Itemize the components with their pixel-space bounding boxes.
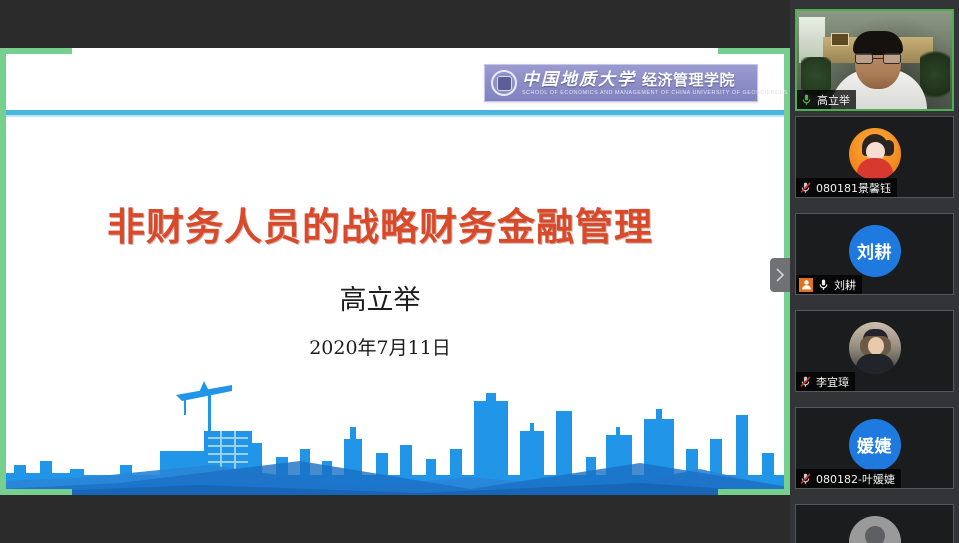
slide-bracket-top-right-horizontal: [718, 48, 790, 54]
collapse-participants-rail-button[interactable]: [770, 258, 790, 292]
shared-screen-stage[interactable]: 中国地质大学 经济管理学院 SCHOOL OF ECONOMICS AND MA…: [0, 0, 790, 543]
participants-rail[interactable]: 高立举 080181景馨钰 刘耕: [790, 0, 959, 543]
participant-name: 刘耕: [834, 277, 856, 293]
avatar-initials: 媛婕: [857, 432, 892, 457]
slide-presenter-name: 高立举: [0, 278, 760, 317]
slide-header-rule-light: [6, 115, 790, 117]
participant-name: 李宜璋: [816, 374, 849, 390]
slide-bracket-bottom-right-horizontal: [718, 489, 790, 495]
host-badge-icon: [799, 278, 813, 292]
participant-tile[interactable]: 刘耕 刘耕: [795, 213, 954, 295]
microphone-icon: [800, 93, 813, 106]
slide-bracket-top-left-horizontal: [0, 48, 72, 54]
banner-english-name: SCHOOL OF ECONOMICS AND MANAGEMENT OF CH…: [522, 91, 790, 96]
avatar: [849, 516, 901, 543]
microphone-muted-icon: [799, 375, 812, 388]
slide-bracket-bottom-left-horizontal: [0, 489, 72, 495]
avatar: [849, 322, 901, 374]
participant-tile[interactable]: 李宜璋: [795, 310, 954, 392]
participant-nameplate: 高立举: [797, 90, 856, 109]
participant-name: 高立举: [817, 92, 850, 108]
chevron-right-icon: [775, 268, 785, 282]
microphone-icon: [817, 278, 830, 291]
slide-date: 2020年7月11日: [0, 333, 760, 360]
participant-tile[interactable]: 媛婕 080182-叶媛婕: [795, 407, 954, 489]
slide-bracket-left-vertical: [0, 48, 6, 495]
banner-school-name: 经济管理学院: [642, 73, 735, 88]
participant-nameplate: 080181景馨钰: [796, 178, 897, 197]
avatar-initials: 刘耕: [857, 238, 892, 263]
avatar: 媛婕: [849, 419, 901, 471]
participant-tile[interactable]: [795, 504, 954, 543]
avatar: [849, 128, 901, 180]
participant-name: 080182-叶媛婕: [816, 471, 895, 487]
participant-name: 080181景馨钰: [816, 180, 891, 196]
university-banner: 中国地质大学 经济管理学院 SCHOOL OF ECONOMICS AND MA…: [484, 64, 758, 102]
microphone-muted-icon: [799, 472, 812, 485]
participant-nameplate: 刘耕: [796, 275, 862, 294]
video-conference-window: 中国地质大学 经济管理学院 SCHOOL OF ECONOMICS AND MA…: [0, 0, 959, 543]
slide-title: 非财务人员的战略财务金融管理: [0, 196, 760, 251]
banner-university-name: 中国地质大学: [522, 72, 636, 89]
participant-nameplate: 李宜璋: [796, 372, 855, 391]
presentation-slide[interactable]: 中国地质大学 经济管理学院 SCHOOL OF ECONOMICS AND MA…: [0, 48, 790, 495]
university-seal-icon: [491, 70, 517, 96]
microphone-muted-icon: [799, 181, 812, 194]
participant-tile[interactable]: 080181景馨钰: [795, 116, 954, 198]
city-skyline-illustration: [0, 365, 790, 495]
participant-nameplate: 080182-叶媛婕: [796, 469, 901, 488]
avatar: 刘耕: [849, 225, 901, 277]
participant-tile[interactable]: 高立举: [795, 9, 954, 111]
